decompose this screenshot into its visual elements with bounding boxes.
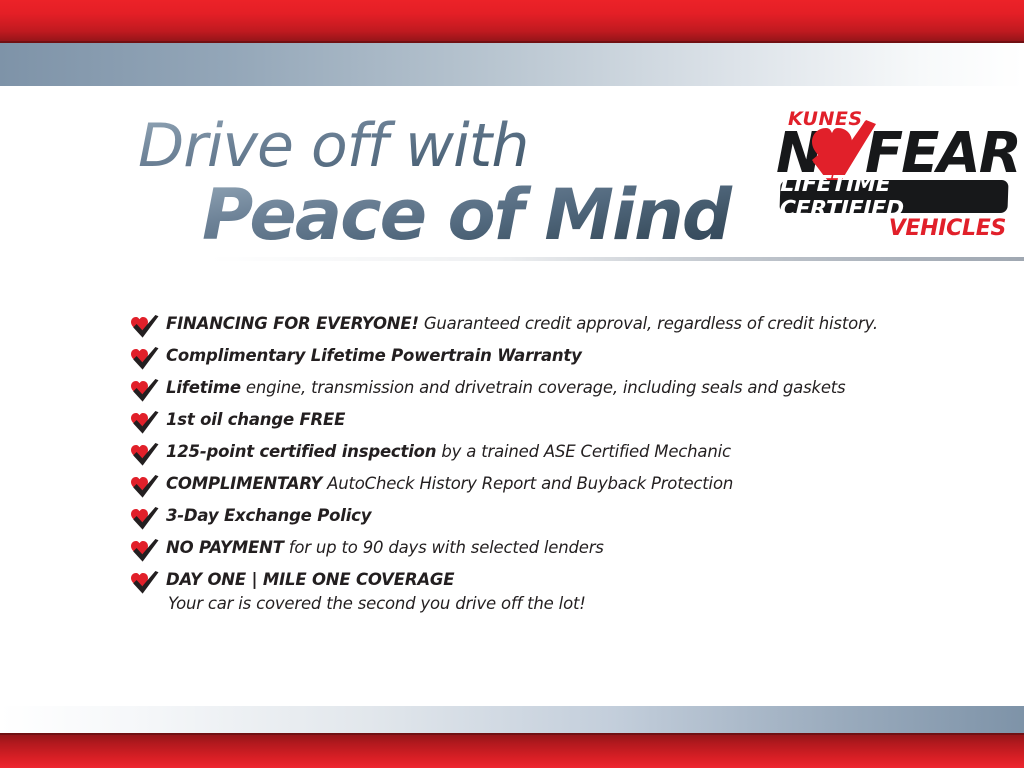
feature-text: COMPLIMENTARY AutoCheck History Report a…	[166, 472, 930, 496]
feature-text: 125-point certified inspection by a trai…	[166, 440, 930, 464]
feature-rest: by a trained ASE Certified Mechanic	[436, 442, 731, 461]
feature-bold: 3-Day Exchange Policy	[166, 506, 371, 525]
feature-text: NO PAYMENT for up to 90 days with select…	[166, 536, 930, 560]
feature-text: 1st oil change FREE	[166, 408, 930, 432]
feature-text: FINANCING FOR EVERYONE! Guaranteed credi…	[166, 312, 930, 336]
logo-bar-label: LIFETIME CERTIFIED	[779, 180, 1008, 213]
bottom-red-band	[0, 733, 1024, 768]
heart-check-bullet-icon	[130, 315, 160, 339]
feature-bold: COMPLIMENTARY	[166, 474, 322, 493]
feature-bold: DAY ONE | MILE ONE COVERAGE	[166, 570, 454, 589]
feature-item: COMPLIMENTARY AutoCheck History Report a…	[130, 472, 930, 504]
feature-text: 3-Day Exchange Policy	[166, 504, 930, 528]
feature-rest: engine, transmission and drivetrain cove…	[241, 378, 846, 397]
feature-rest: Guaranteed credit approval, regardless o…	[419, 314, 878, 333]
logo-bar-label-wrap: LIFETIME CERTIFIED	[779, 180, 1008, 213]
heart-check-bullet-icon	[130, 379, 160, 403]
headline: Drive off with Peace of Mind	[138, 118, 738, 249]
feature-list: FINANCING FOR EVERYONE! Guaranteed credi…	[130, 312, 930, 624]
feature-bold: 125-point certified inspection	[166, 442, 436, 461]
bottom-blue-band	[0, 706, 1024, 733]
feature-rest: for up to 90 days with selected lenders	[284, 538, 604, 557]
heart-check-bullet-icon	[130, 411, 160, 435]
feature-item: Lifetime engine, transmission and drivet…	[130, 376, 930, 408]
heart-check-bullet-icon	[130, 539, 160, 563]
feature-item: NO PAYMENT for up to 90 days with select…	[130, 536, 930, 568]
feature-text: DAY ONE | MILE ONE COVERAGE	[166, 568, 930, 592]
feature-subtext: Your car is covered the second you drive…	[166, 592, 930, 616]
feature-rest: AutoCheck History Report and Buyback Pro…	[322, 474, 733, 493]
feature-item: 1st oil change FREE	[130, 408, 930, 440]
feature-text: Lifetime engine, transmission and drivet…	[166, 376, 930, 400]
feature-text: Complimentary Lifetime Powertrain Warran…	[166, 344, 930, 368]
heart-check-bullet-icon	[130, 507, 160, 531]
promo-poster: Drive off with Peace of Mind KUNES NFEAR…	[0, 0, 1024, 768]
feature-item: 3-Day Exchange Policy	[130, 504, 930, 536]
feature-bold: 1st oil change FREE	[166, 410, 345, 429]
feature-bold: Complimentary Lifetime Powertrain Warran…	[166, 346, 582, 365]
heart-check-bullet-icon	[130, 443, 160, 467]
heart-check-bullet-icon	[130, 347, 160, 371]
top-red-band	[0, 0, 1024, 43]
feature-item: DAY ONE | MILE ONE COVERAGE Your car is …	[130, 568, 930, 624]
feature-bold: FINANCING FOR EVERYONE!	[166, 314, 419, 333]
headline-line-2: Peace of Mind	[202, 182, 738, 249]
headline-line-1: Drive off with	[138, 118, 738, 176]
heart-check-bullet-icon	[130, 571, 160, 595]
feature-bold: NO PAYMENT	[166, 538, 284, 557]
feature-item: Complimentary Lifetime Powertrain Warran…	[130, 344, 930, 376]
top-blue-band	[0, 43, 1024, 86]
heart-check-bullet-icon	[130, 475, 160, 499]
kunes-no-fear-logo: KUNES NFEAR LIFETIME CERTIFIED VEHICLES	[776, 108, 1010, 248]
feature-item: 125-point certified inspection by a trai…	[130, 440, 930, 472]
feature-bold: Lifetime	[166, 378, 241, 397]
feature-item: FINANCING FOR EVERYONE! Guaranteed credi…	[130, 312, 930, 344]
header-divider	[210, 257, 1024, 261]
logo-vehicles-text: VEHICLES	[889, 216, 1006, 241]
